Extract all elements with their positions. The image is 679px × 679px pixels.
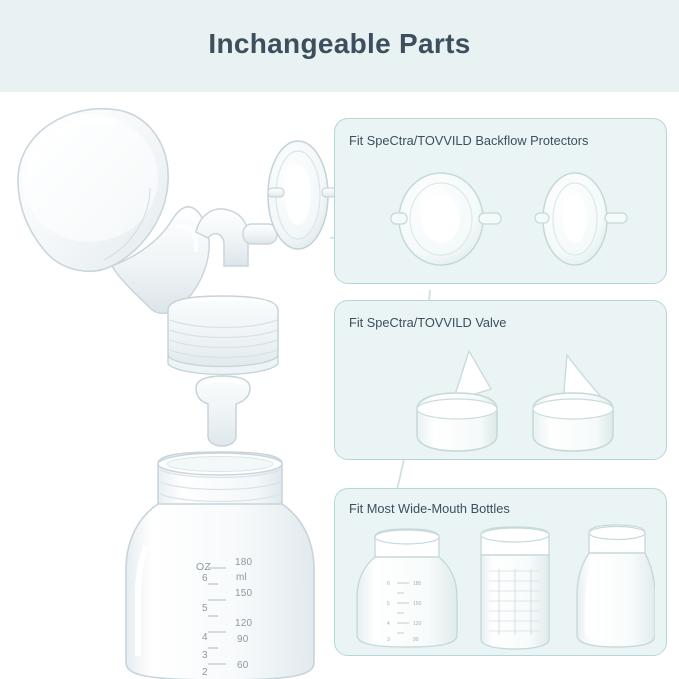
- bottle-oz-6: 6: [202, 573, 208, 584]
- panel-valve: Fit SpeCtra/TOVVILD Valve: [334, 300, 667, 460]
- bottle-body: [126, 504, 314, 679]
- svg-text:4: 4: [387, 621, 390, 627]
- bottle-oz-3: 3: [202, 650, 208, 661]
- bottle-ml-60: 60: [237, 660, 249, 671]
- bottle-ml-120: 120: [235, 618, 252, 629]
- svg-text:180: 180: [413, 581, 422, 587]
- bottle-unit-oz: OZ: [196, 561, 211, 573]
- duckbill-valve-open: [417, 351, 497, 451]
- duckbill-valve: [196, 376, 250, 446]
- bottle-graduated: 6180 5150 4120 390: [357, 529, 457, 647]
- bottle-oz-2: 2: [202, 667, 208, 678]
- bottle-ribbed: [481, 527, 549, 649]
- panel-backflow-protectors: Fit SpeCtra/TOVVILD Backflow Protectors: [334, 118, 667, 284]
- panel-backflow-label: Fit SpeCtra/TOVVILD Backflow Protectors: [349, 133, 609, 149]
- pump-body-collar: [168, 296, 278, 375]
- panel-bottles: Fit Most Wide-Mouth Bottles: [334, 488, 667, 656]
- backflow-protector-front: [391, 173, 501, 265]
- panel-valve-label: Fit SpeCtra/TOVVILD Valve: [349, 315, 609, 331]
- bottle-trio: 6180 5150 4120 390: [349, 523, 655, 651]
- product-infographic: Inchangeable Parts: [0, 0, 679, 679]
- silicone-flange: [18, 109, 168, 271]
- bottle-ml-90: 90: [237, 634, 249, 645]
- duckbill-valve-pair: [395, 343, 645, 455]
- svg-text:3: 3: [387, 637, 390, 643]
- bottle-plain: [577, 525, 655, 647]
- svg-text:5: 5: [387, 601, 390, 607]
- duckbill-valve-closed: [533, 355, 613, 451]
- bottle-ml-150: 150: [235, 588, 252, 599]
- breast-pump-illustration: [0, 80, 340, 500]
- svg-text:6: 6: [387, 581, 390, 587]
- bottle-unit-ml: ml: [236, 572, 247, 583]
- svg-text:90: 90: [413, 637, 419, 643]
- bottle-ml-180: 180: [235, 557, 252, 568]
- bottle-oz-4: 4: [202, 632, 208, 643]
- svg-text:120: 120: [413, 621, 422, 627]
- backflow-protector-side: [535, 173, 627, 265]
- bottle-oz-5: 5: [202, 603, 208, 614]
- svg-text:150: 150: [413, 601, 422, 607]
- wide-mouth-bottle: [110, 450, 330, 679]
- backflow-protector-pair: [355, 163, 655, 275]
- panel-bottles-label: Fit Most Wide-Mouth Bottles: [349, 501, 609, 517]
- page-title: Inchangeable Parts: [0, 28, 679, 60]
